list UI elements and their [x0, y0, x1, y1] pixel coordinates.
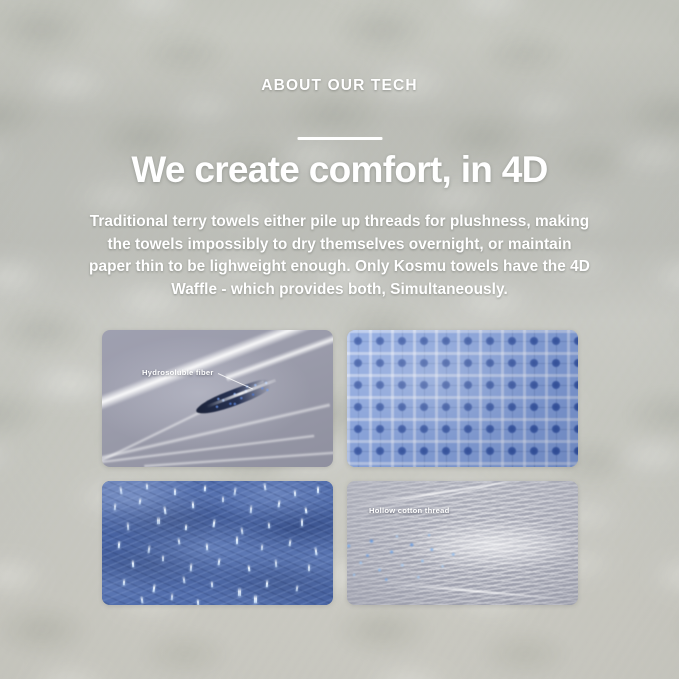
section-eyebrow: ABOUT OUR TECH [0, 77, 679, 95]
tile-hollow-cotton-thread[interactable]: Hollow cotton thread [347, 481, 578, 605]
heading-divider [297, 137, 382, 140]
tile4-caption: Hollow cotton thread [369, 506, 450, 515]
feature-image-grid: Hydrosoluble fiber Hollow cotton thread [102, 330, 578, 605]
tile3-fiber-speck [203, 485, 206, 492]
tile4-blue-crystals [347, 528, 472, 588]
section-body-text: Traditional terry towels either pile up … [88, 211, 591, 301]
tile3-fiber-speck [238, 588, 240, 597]
tile-hydrosoluble-fiber[interactable]: Hydrosoluble fiber [102, 330, 333, 467]
tile3-fiber-speck [222, 496, 224, 503]
tile3-fiber-speck [308, 564, 310, 572]
tile-woven-fabric[interactable] [102, 481, 333, 605]
tile3-fiber-speck [247, 565, 250, 572]
tile-waffle-weave[interactable] [347, 330, 578, 467]
tile3-fiber-speck [174, 488, 176, 496]
tile3-fiber-speck [196, 599, 199, 605]
tile3-fiber-speck [254, 595, 256, 604]
about-tech-section: ABOUT OUR TECH We create comfort, in 4D … [0, 0, 679, 679]
page-title: We create comfort, in 4D [0, 148, 679, 192]
tile3-fiber-speck [162, 555, 164, 562]
tile1-caption: Hydrosoluble fiber [142, 368, 214, 377]
tile3-fiber-speck [317, 486, 319, 494]
tile3-cloth-texture [102, 481, 333, 605]
tile2-softness [347, 330, 578, 467]
tile3-fiber-speck [293, 490, 296, 497]
tile3-fiber-speck [113, 503, 116, 511]
tile3-fiber-speck [210, 581, 213, 588]
tile3-fiber-speck [301, 518, 303, 527]
tile3-fiber-speck [157, 517, 159, 525]
tile3-fiber-speck [236, 536, 238, 545]
